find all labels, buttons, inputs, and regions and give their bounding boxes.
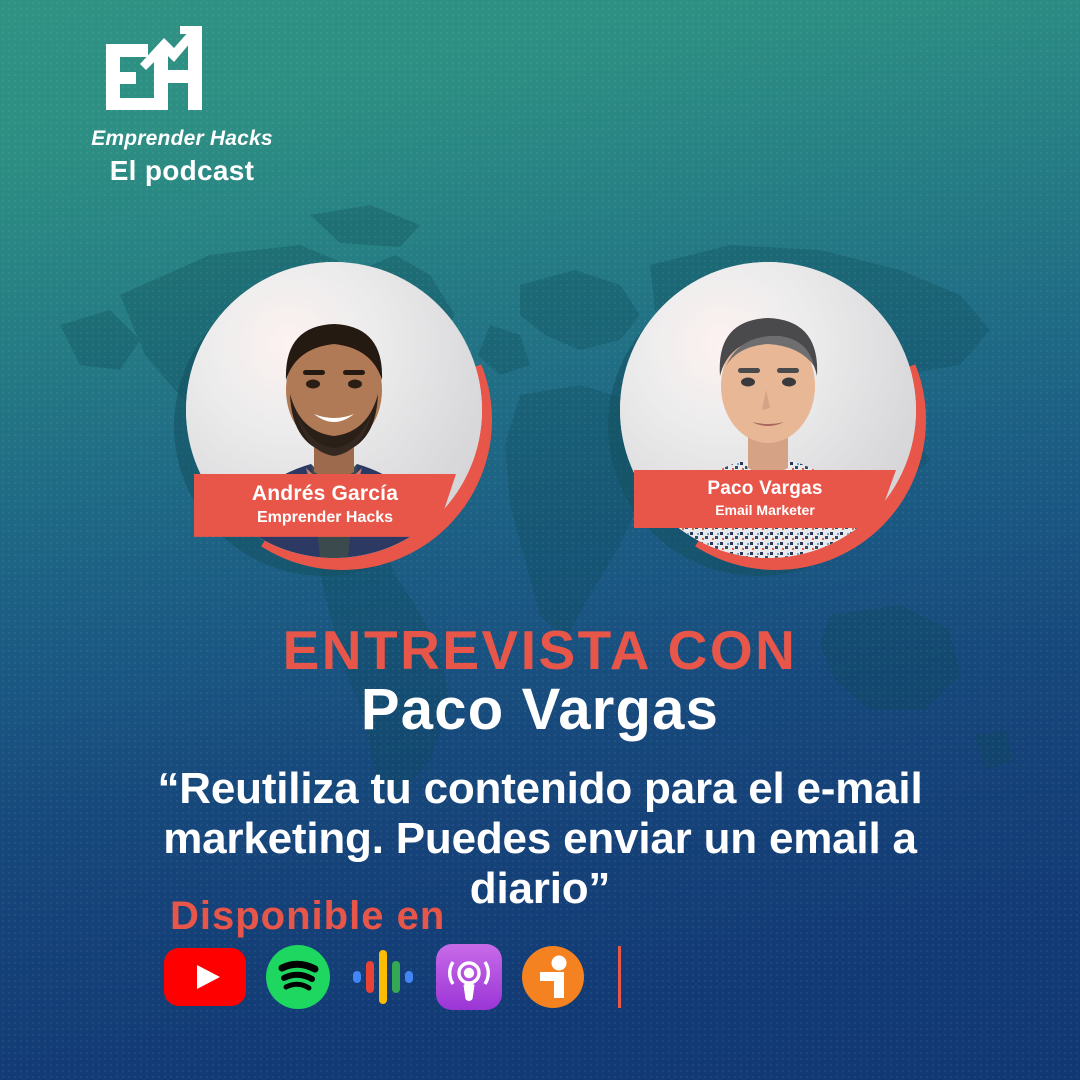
google-podcasts-icon[interactable] <box>350 944 416 1010</box>
guest-role: Emprender Hacks <box>194 508 456 527</box>
guest-name: Andrés García <box>194 483 456 506</box>
guest-name-plate: Paco Vargas Email Marketer <box>634 470 896 528</box>
platform-icon-list <box>164 944 621 1010</box>
guest-card-paco: Paco Vargas Email Marketer <box>620 262 920 562</box>
youtube-icon[interactable] <box>164 948 246 1006</box>
brand-name: Emprender Hacks <box>62 127 302 151</box>
ivoox-icon[interactable] <box>522 946 584 1008</box>
availability-label: Disponible en <box>170 894 445 939</box>
platform-divider <box>618 946 621 1008</box>
guest-role: Email Marketer <box>634 502 896 519</box>
apple-podcasts-icon[interactable] <box>436 944 502 1010</box>
guest-name: Paco Vargas <box>634 479 896 500</box>
headline-kicker: ENTREVISTA CON <box>0 618 1080 682</box>
spotify-icon[interactable] <box>266 945 330 1009</box>
podcast-promo-poster: Emprender Hacks El podcast <box>0 0 1080 1080</box>
brand-subtitle: El podcast <box>62 155 302 187</box>
guest-name-plate: Andrés García Emprender Hacks <box>194 474 456 537</box>
guest-card-andres: Andrés García Emprender Hacks <box>186 262 486 562</box>
page-title: Paco Vargas <box>0 676 1080 743</box>
eh-monogram-growth-arrow-icon <box>102 22 222 120</box>
brand-logo-block: Emprender Hacks El podcast <box>62 22 312 187</box>
guest-quote: “Reutiliza tu contenido para el e-mail m… <box>90 764 990 914</box>
